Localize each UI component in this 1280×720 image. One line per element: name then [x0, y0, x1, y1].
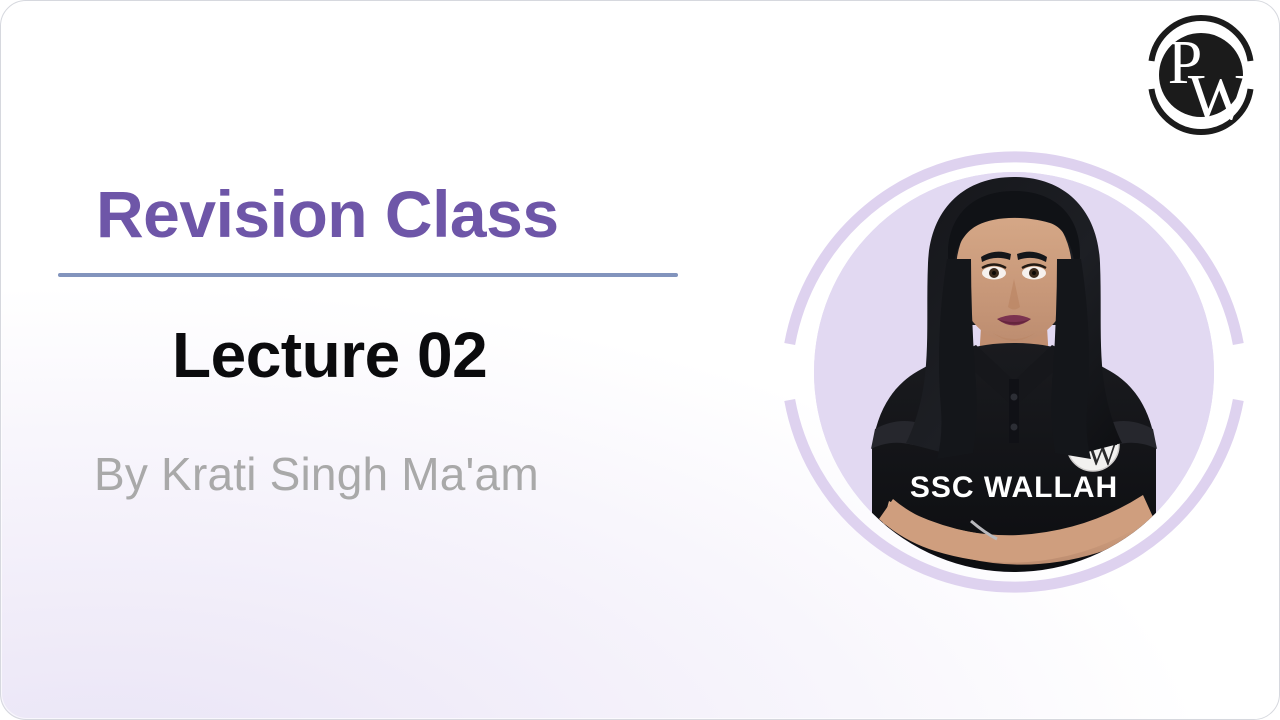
lecture-title: Lecture 02 — [58, 277, 698, 387]
pw-logo-letter-w: W — [1188, 61, 1251, 134]
slide-canvas: P W Revision Class Lecture 02 By Krati S… — [0, 0, 1280, 720]
shirt-text: SSC WALLAH — [910, 471, 1118, 504]
presenter-name: By Krati Singh Ma'am — [58, 387, 698, 497]
page-title: Revision Class — [58, 181, 698, 247]
title-block: Revision Class Lecture 02 By Krati Singh… — [58, 181, 698, 497]
instructor-portrait: P W SSC WALLAH — [771, 129, 1257, 615]
pw-logo: P W — [1135, 9, 1267, 141]
portrait-photo: P W SSC WALLAH — [814, 172, 1214, 579]
